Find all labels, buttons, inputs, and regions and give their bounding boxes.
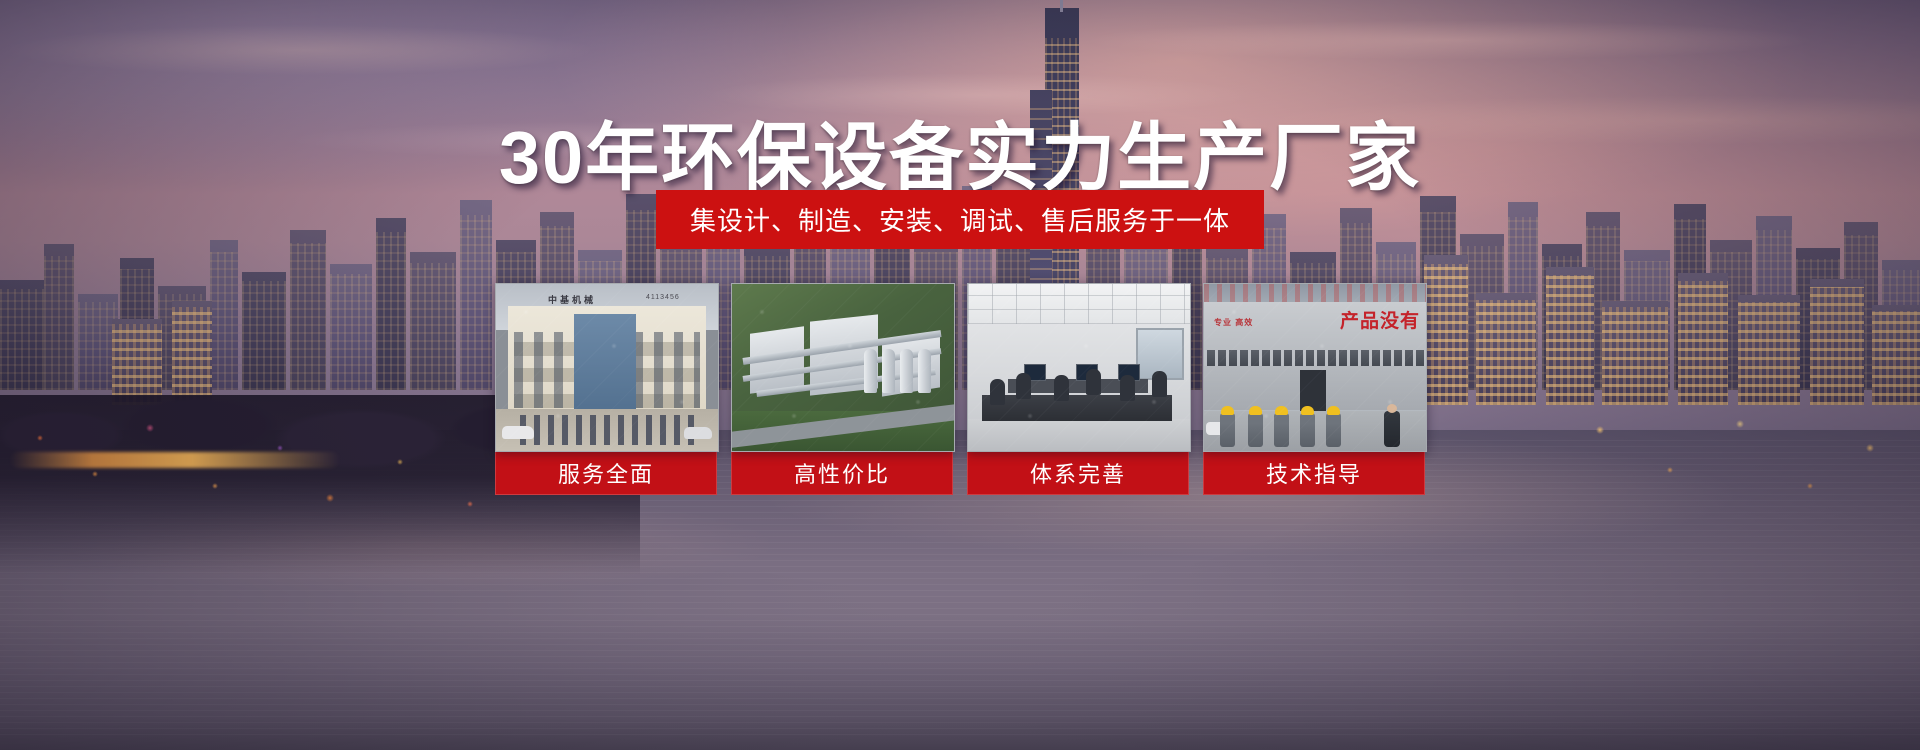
factory-signage-secondary: 专业 高效	[1214, 318, 1253, 328]
bridge-lights	[10, 452, 340, 468]
feature-card-image-factory-exterior: 专业 高效 产品没有	[1203, 283, 1427, 452]
banner-subtitle: 集设计、制造、安装、调试、售后服务于一体	[656, 190, 1264, 249]
building-signage-secondary: 4113456	[646, 294, 680, 301]
factory-signage: 产品没有	[1340, 306, 1420, 333]
feature-card-image-aerial-plant	[731, 283, 955, 452]
feature-card[interactable]: 高性价比	[731, 283, 953, 495]
hero-banner: 30年环保设备实力生产厂家 集设计、制造、安装、调试、售后服务于一体 中基机械 …	[0, 0, 1920, 750]
feature-card-caption: 技术指导	[1203, 452, 1425, 495]
feature-card-caption: 体系完善	[967, 452, 1189, 495]
feature-card-image-office-building: 中基机械 4113456	[495, 283, 719, 452]
feature-card-caption: 高性价比	[731, 452, 953, 495]
feature-card-row: 中基机械 4113456 服务全面	[495, 283, 1425, 495]
feature-card-image-office-interior	[967, 283, 1191, 452]
feature-card-caption: 服务全面	[495, 452, 717, 495]
building-signage: 中基机械	[548, 293, 596, 306]
subtitle-bar-wrapper: 集设计、制造、安装、调试、售后服务于一体	[0, 190, 1920, 249]
feature-card[interactable]: 中基机械 4113456 服务全面	[495, 283, 717, 495]
feature-card[interactable]: 体系完善	[967, 283, 1189, 495]
right-bank-lights	[1560, 400, 1920, 550]
banner-headline: 30年环保设备实力生产厂家	[0, 98, 1920, 205]
feature-card[interactable]: 专业 高效 产品没有 技术指导	[1203, 283, 1425, 495]
